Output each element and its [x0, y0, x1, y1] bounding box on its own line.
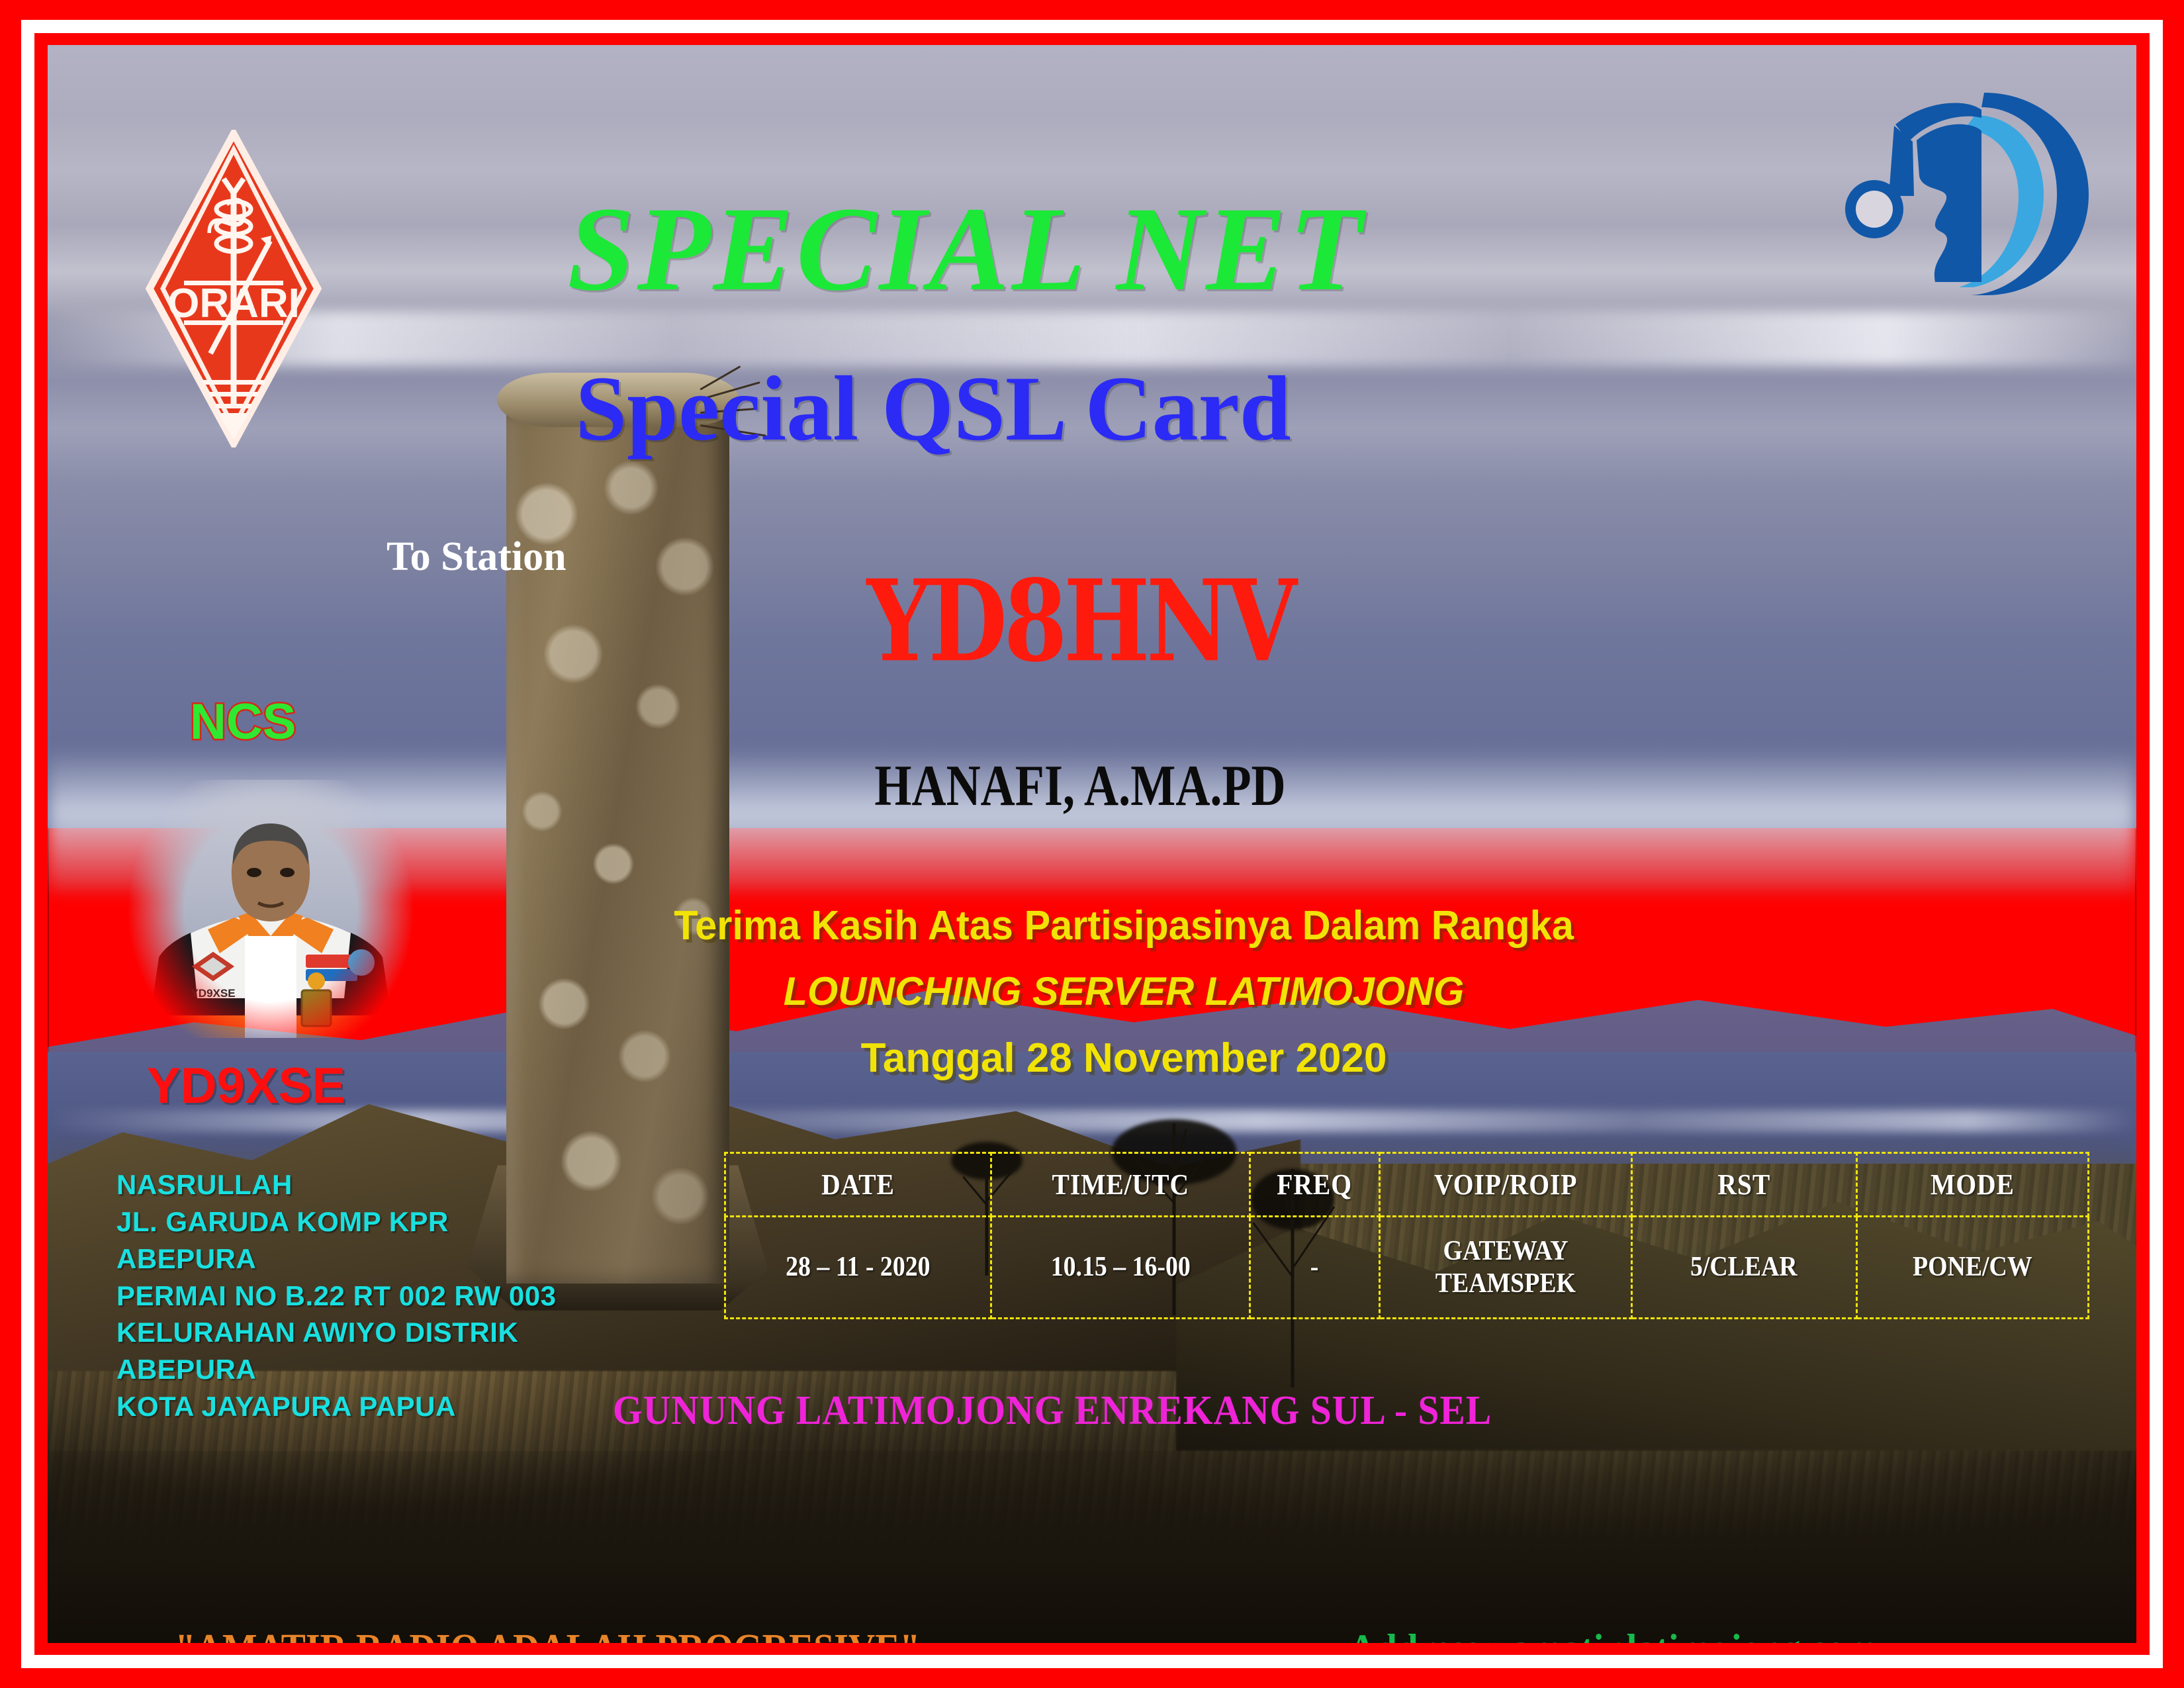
station-callsign: YD8HNV: [832, 568, 1328, 674]
cell-time: 10.15 – 16-00: [991, 1217, 1250, 1319]
table-header-row: DATE TIME/UTC FREQ VOIP/ROIP RST MODE: [725, 1153, 2089, 1217]
page-title: SPECIAL NET: [567, 189, 1365, 310]
orari-logo: ORARI: [144, 130, 323, 447]
cell-voip: GATEWAY TEAMSPEK: [1379, 1217, 1631, 1319]
card-background-photo: ORARI SPECIAL NET Special QSL Card To St: [48, 45, 2136, 1643]
column-header-voip: VOIP/ROIP: [1379, 1153, 1631, 1217]
address-line: KELURAHAN AWIYO DISTRIK: [116, 1314, 556, 1351]
event-date: Tanggal 28 November 2020: [861, 1038, 1387, 1079]
page-subtitle: Special QSL Card: [575, 363, 1291, 455]
cell-date: 28 – 11 - 2020: [725, 1217, 991, 1319]
station-callsign-text: YD8HNV: [867, 565, 1294, 677]
column-header-freq: FREQ: [1250, 1153, 1380, 1217]
table-row: 28 – 11 - 2020 10.15 – 16-00 - GATEWAY T…: [725, 1217, 2089, 1319]
voip-headset-logo: [1845, 83, 2097, 302]
address-block: NASRULLAH JL. GARUDA KOMP KPR ABEPURA PE…: [116, 1166, 556, 1425]
thanks-line: Terima Kasih Atas Partisipasinya Dalam R…: [655, 906, 1592, 947]
address-line: ABEPURA: [116, 1351, 556, 1388]
address-line: ABEPURA: [116, 1241, 556, 1278]
event-name: LOUNCHING SERVER LATIMOJONG: [780, 972, 1468, 1011]
ncs-callsign: YD9XSE: [147, 1061, 345, 1111]
footer-address-text: Address : amatir.latimojong.com: [1349, 1628, 1877, 1643]
thanks-line-text: Terima Kasih Atas Partisipasinya Dalam R…: [674, 906, 1574, 947]
uniform-callsign-text: YD9XSE: [191, 987, 235, 1000]
qsl-card: ORARI SPECIAL NET Special QSL Card To St: [0, 0, 2184, 1688]
column-header-time: TIME/UTC: [991, 1153, 1250, 1217]
stone-monument: [497, 373, 739, 1284]
orari-logo-text: ORARI: [167, 281, 300, 326]
event-name-text: LOUNCHING SERVER LATIMOJONG: [784, 972, 1465, 1011]
footer-address: Address : amatir.latimojong.com: [1335, 1628, 1891, 1643]
address-line: JL. GARUDA KOMP KPR: [116, 1203, 556, 1241]
footer-motto-text: "AMATIR RADIO ADALAH PROGRESIVE": [175, 1628, 921, 1643]
address-line: NASRULLAH: [116, 1166, 556, 1203]
bottom-dark-strip: [48, 1451, 2136, 1643]
location-text: GUNUNG LATIMOJONG ENREKANG SUL - SEL: [613, 1390, 1492, 1431]
column-header-date: DATE: [725, 1153, 991, 1217]
footer-motto: "AMATIR RADIO ADALAH PROGRESIVE": [134, 1628, 962, 1643]
operator-name: HANAFI, A.MA.PD: [829, 757, 1331, 816]
location-label: GUNUNG LATIMOJONG ENREKANG SUL - SEL: [580, 1390, 1525, 1431]
address-line: PERMAI NO B.22 RT 002 RW 003: [116, 1278, 556, 1315]
qso-log-table: DATE TIME/UTC FREQ VOIP/ROIP RST MODE 28…: [724, 1152, 2089, 1319]
to-station-label: To Station: [387, 536, 567, 577]
column-header-rst: RST: [1631, 1153, 1856, 1217]
cell-mode: PONE/CW: [1856, 1217, 2088, 1319]
ncs-label: NCS: [190, 697, 296, 747]
ncs-operator-photo: YD9XSE: [128, 780, 413, 1038]
address-line: KOTA JAYAPURA PAPUA: [116, 1388, 556, 1425]
cell-rst: 5/CLEAR: [1631, 1217, 1856, 1319]
cell-freq: -: [1250, 1217, 1380, 1319]
column-header-mode: MODE: [1856, 1153, 2088, 1217]
operator-name-text: HANAFI, A.MA.PD: [874, 757, 1285, 816]
